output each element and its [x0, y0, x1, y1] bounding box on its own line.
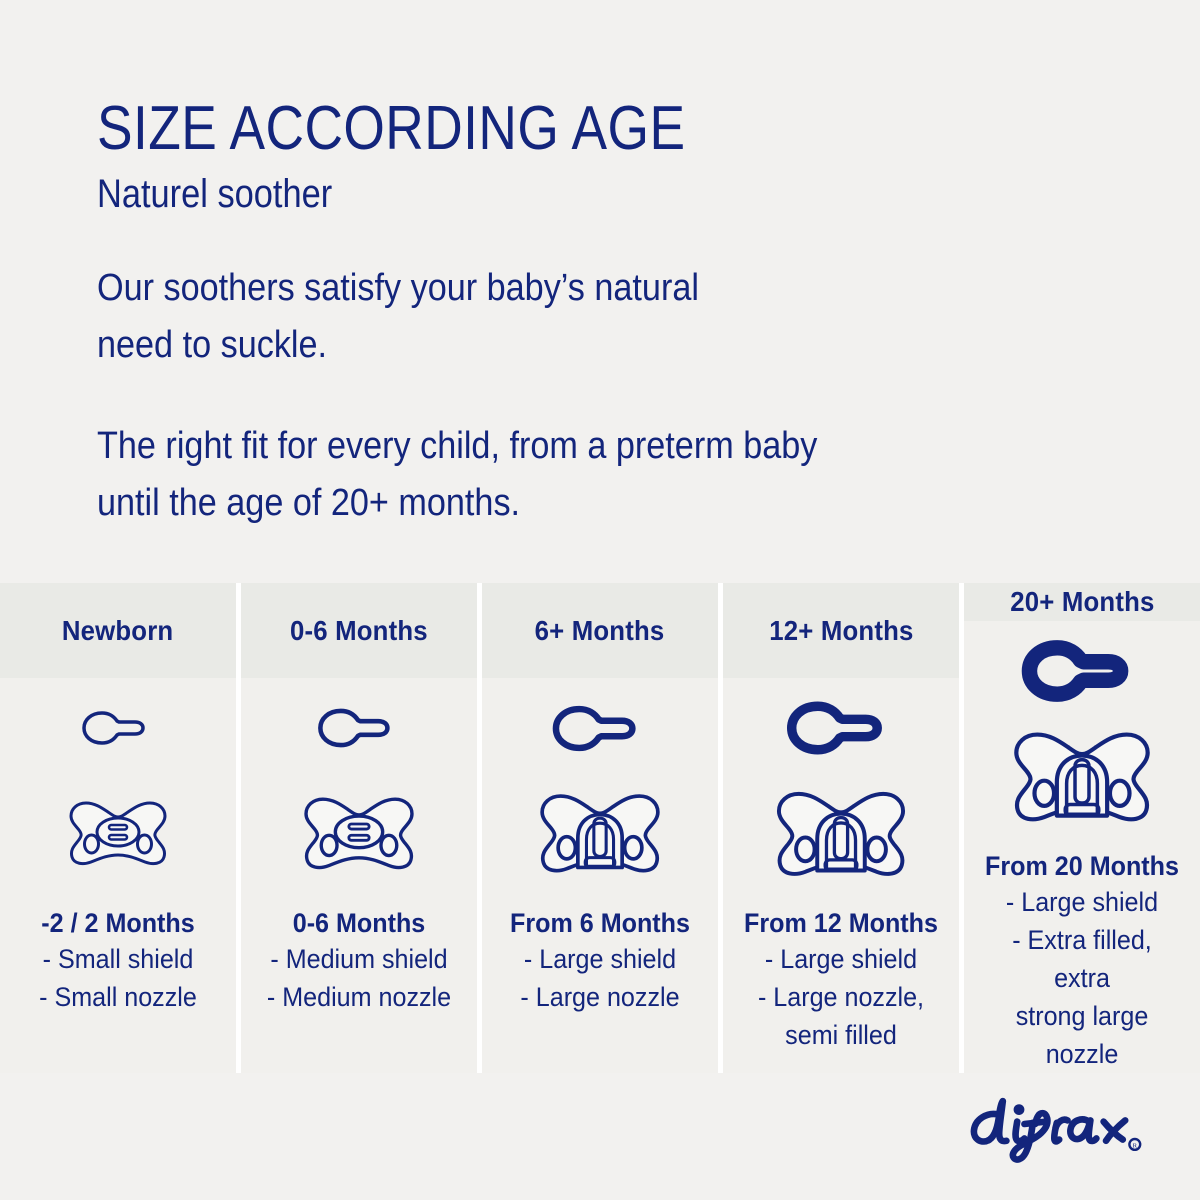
- column-text-0-6-months: 0-6 Months - Medium shield - Medium nozz…: [241, 888, 477, 1016]
- feature-item: - Extra filled, extra strong large nozzl…: [983, 921, 1180, 1073]
- column-body-0-6-months: 0-6 Months - Medium shield - Medium nozz…: [241, 678, 477, 1073]
- column-text-20-plus-months: From 20 Months - Large shield - Extra fi…: [964, 831, 1200, 1073]
- header-text-block: SIZE ACCORDING AGE Naturel soother Our s…: [97, 96, 1117, 532]
- size-column-0-6-months: 0-6 Months 0-6 Months - Me: [241, 583, 477, 1073]
- nozzle-zone: [964, 621, 1200, 721]
- soother-nozzle-icon: [783, 696, 899, 760]
- column-header-0-6-months: 0-6 Months: [241, 583, 477, 678]
- column-body-12-plus-months: From 12 Months - Large shield - Large no…: [723, 678, 959, 1073]
- size-label: 0-6 Months: [260, 906, 457, 940]
- size-label: From 12 Months: [742, 906, 939, 940]
- feature-item: - Large shield: [501, 940, 698, 978]
- feature-item: - Small shield: [19, 940, 216, 978]
- soother-nozzle-icon: [78, 706, 158, 750]
- feature-item: - Small nozzle: [19, 978, 216, 1016]
- soother-shield-icon: [1005, 722, 1159, 831]
- soother-shield-icon: [63, 794, 173, 872]
- soother-nozzle-icon: [548, 700, 652, 757]
- size-table: Newborn -2 / 2 Months - Sm: [0, 583, 1200, 1073]
- column-text-12-plus-months: From 12 Months - Large shield - Large no…: [723, 888, 959, 1054]
- shield-zone: [482, 778, 718, 888]
- column-text-newborn: -2 / 2 Months - Small shield - Small noz…: [0, 888, 236, 1016]
- column-header-6-plus-months: 6+ Months: [482, 583, 718, 678]
- feature-item: - Large shield: [983, 883, 1180, 921]
- column-body-newborn: -2 / 2 Months - Small shield - Small noz…: [0, 678, 236, 1073]
- shield-zone: [964, 721, 1200, 831]
- page-subtitle: Naturel soother: [97, 170, 974, 218]
- feature-item: - Medium shield: [260, 940, 457, 978]
- page-title: SIZE ACCORDING AGE: [97, 96, 974, 162]
- column-body-6-plus-months: From 6 Months - Large shield - Large noz…: [482, 678, 718, 1073]
- feature-item: - Large nozzle: [501, 978, 698, 1016]
- nozzle-zone: [0, 678, 236, 778]
- intro-paragraph-2: The right fit for every child, from a pr…: [97, 418, 1015, 532]
- difrax-wordmark-icon: R: [962, 1094, 1142, 1166]
- shield-zone: [723, 778, 959, 888]
- nozzle-zone: [241, 678, 477, 778]
- feature-item: - Medium nozzle: [260, 978, 457, 1016]
- shield-zone: [241, 778, 477, 888]
- nozzle-zone: [723, 678, 959, 778]
- column-header-newborn: Newborn: [0, 583, 236, 678]
- column-header-label: 20+ Months: [1010, 586, 1154, 618]
- column-header-20-plus-months: 20+ Months: [964, 583, 1200, 621]
- column-header-12-plus-months: 12+ Months: [723, 583, 959, 678]
- soother-nozzle-icon: [1020, 637, 1144, 705]
- size-label: From 20 Months: [983, 849, 1180, 883]
- soother-shield-icon: [297, 789, 421, 877]
- column-header-label: 12+ Months: [769, 615, 913, 647]
- column-header-label: 0-6 Months: [290, 615, 428, 647]
- soother-shield-icon: [532, 785, 668, 881]
- column-header-label: Newborn: [62, 615, 173, 647]
- size-column-12-plus-months: 12+ Months From 12 Mont: [723, 583, 959, 1073]
- size-column-20-plus-months: 20+ Months From 20 Mont: [964, 583, 1200, 1073]
- column-text-6-plus-months: From 6 Months - Large shield - Large noz…: [482, 888, 718, 1016]
- size-label: -2 / 2 Months: [19, 906, 216, 940]
- svg-text:R: R: [1133, 1142, 1138, 1149]
- nozzle-zone: [482, 678, 718, 778]
- size-column-6-plus-months: 6+ Months From 6 Months: [482, 583, 718, 1073]
- intro-paragraph-1: Our soothers satisfy your baby’s natural…: [97, 260, 1015, 374]
- column-header-label: 6+ Months: [535, 615, 665, 647]
- soother-nozzle-icon: [313, 703, 405, 753]
- feature-item: - Large nozzle, semi filled: [742, 978, 939, 1054]
- size-column-newborn: Newborn -2 / 2 Months - Sm: [0, 583, 236, 1073]
- size-label: From 6 Months: [501, 906, 698, 940]
- soother-shield-icon: [768, 782, 914, 885]
- feature-item: - Large shield: [742, 940, 939, 978]
- difrax-logo: R: [962, 1094, 1142, 1166]
- column-body-20-plus-months: From 20 Months - Large shield - Extra fi…: [964, 621, 1200, 1073]
- shield-zone: [0, 778, 236, 888]
